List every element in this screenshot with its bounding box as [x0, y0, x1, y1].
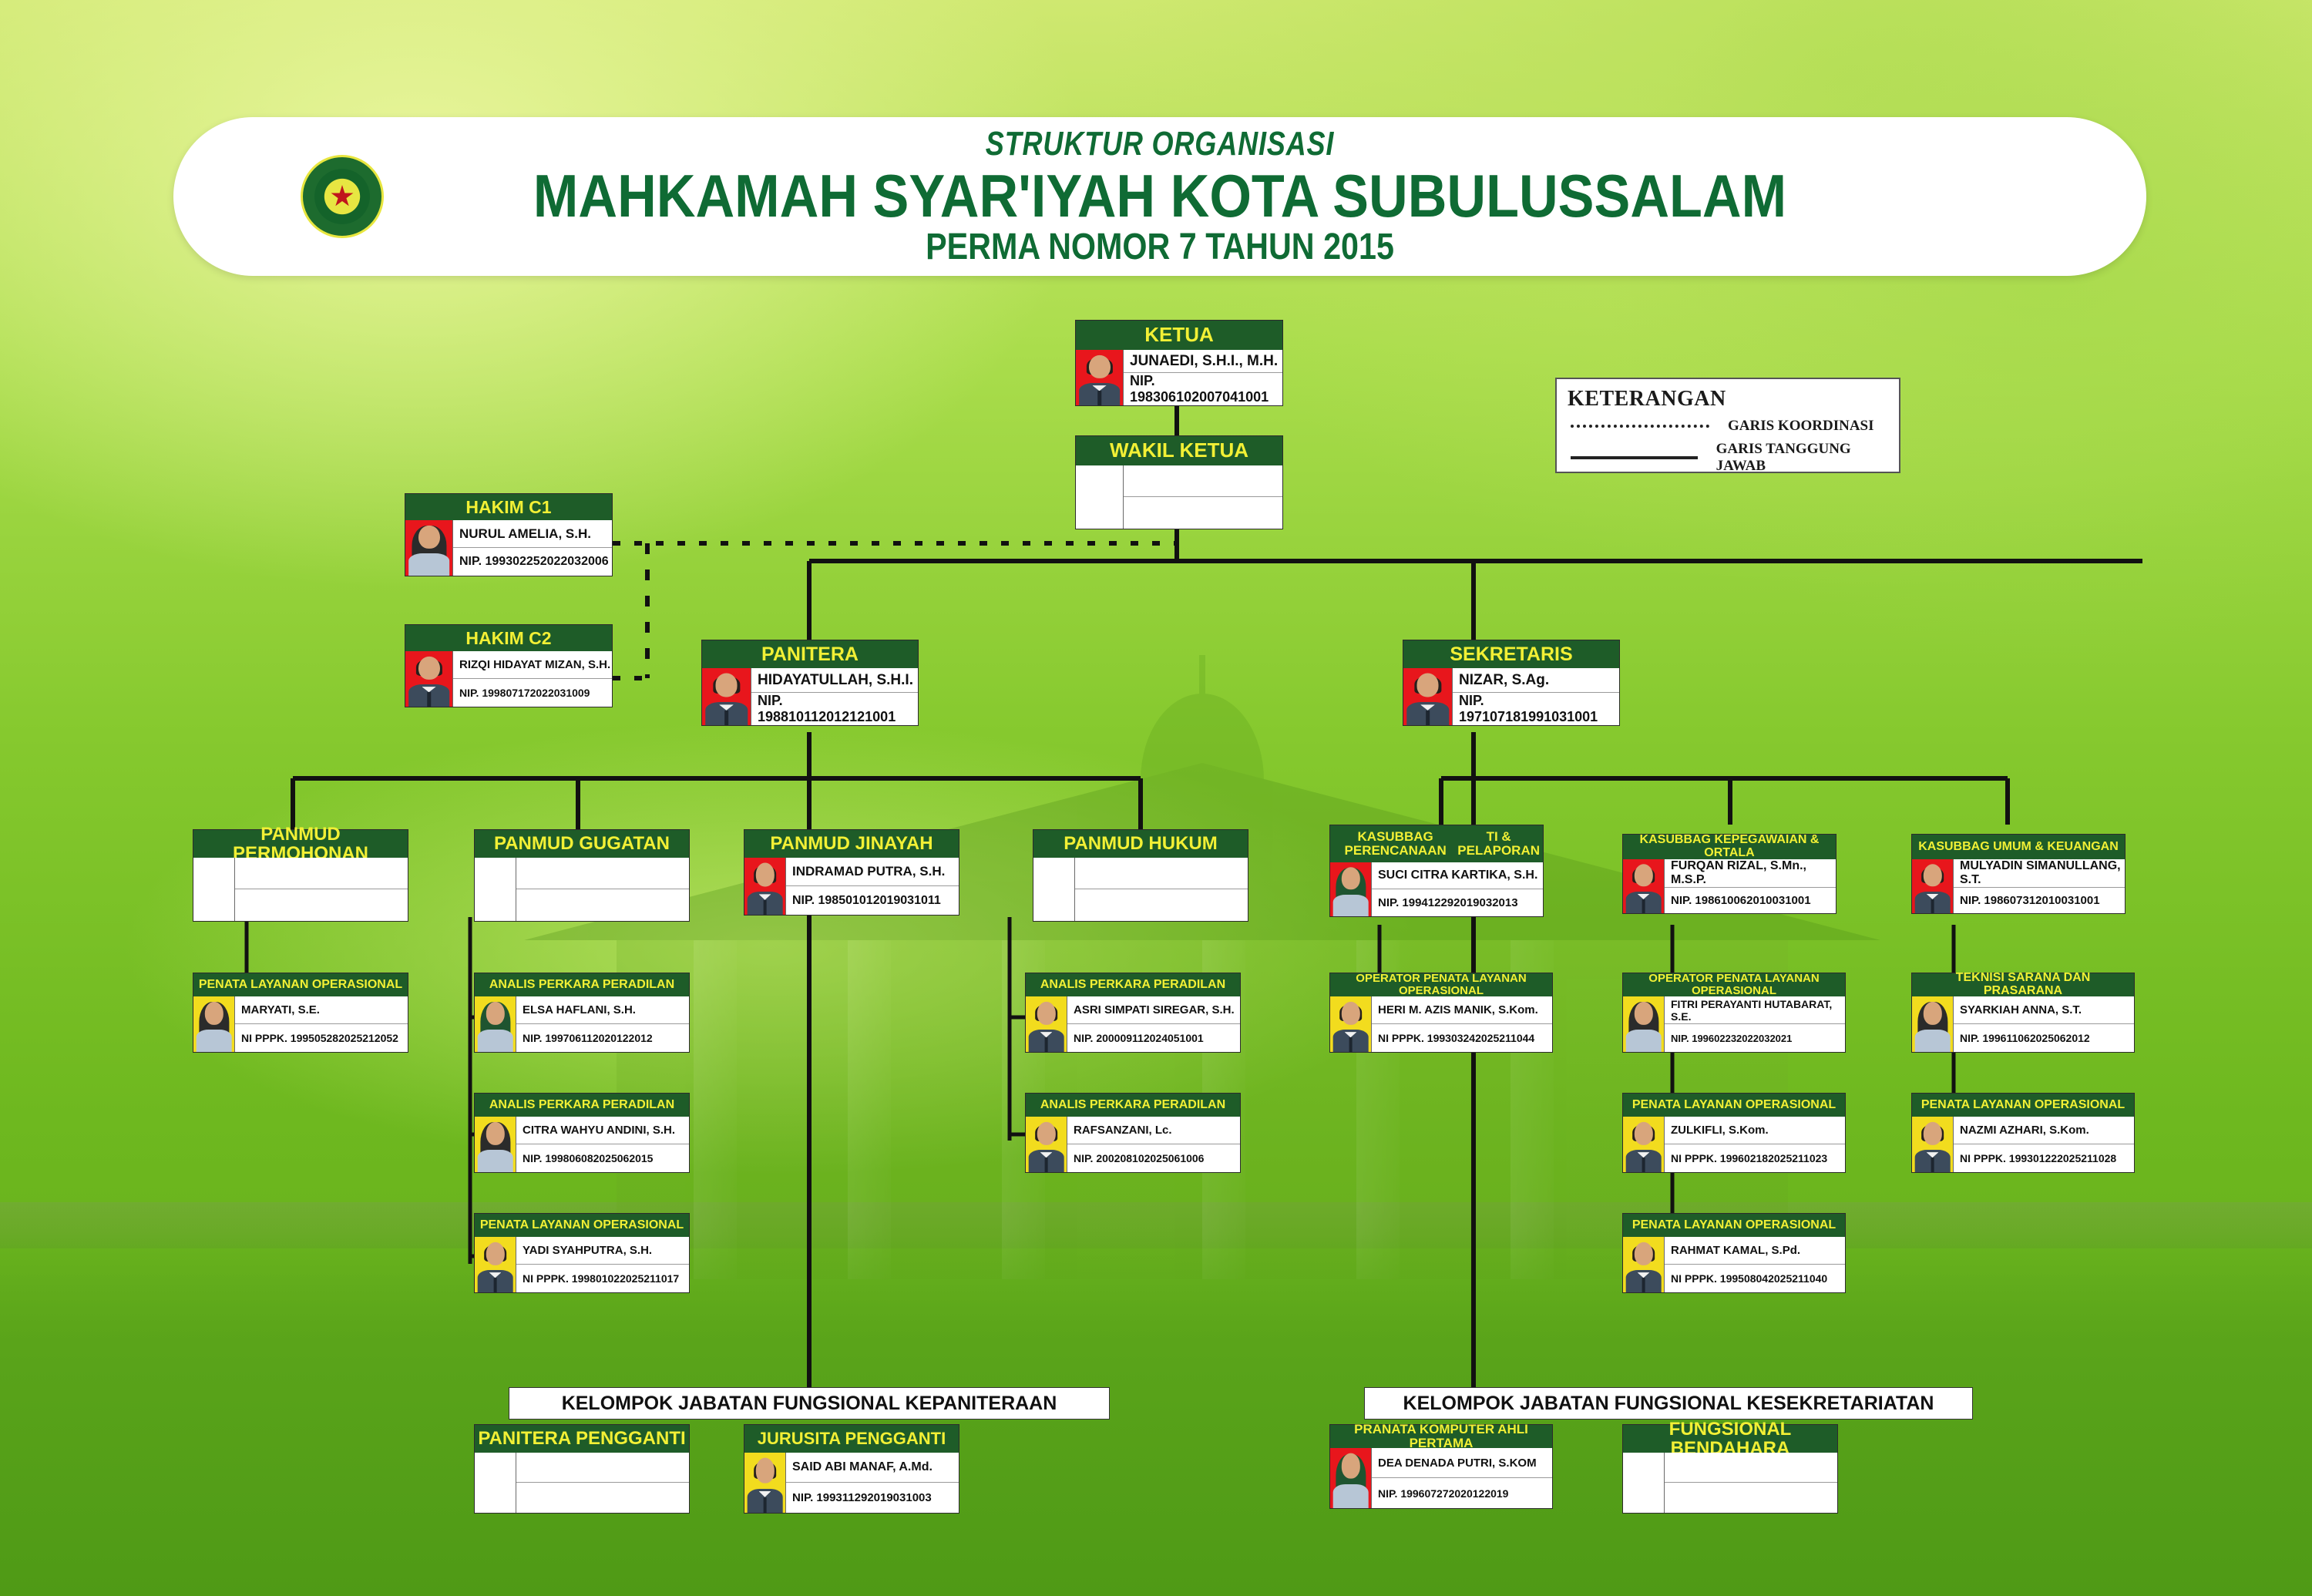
photo-panmud-gugatan	[475, 858, 516, 921]
org-card-panitera[interactable]: PANITERAHIDAYATULLAH, S.H.I.NIP. 1988101…	[701, 640, 919, 726]
org-card-jurusita-pengganti[interactable]: JURUSITA PENGGANTISAID ABI MANAF, A.Md.N…	[744, 1424, 959, 1514]
org-card-fitri[interactable]: OPERATOR PENATA LAYANAN OPERASIONALFITRI…	[1622, 973, 1846, 1053]
card-nip-rahmat: NI PPPK. 199508042025211040	[1665, 1265, 1845, 1292]
card-title-panmud-permohonan: PANMUD PERMOHONAN	[193, 830, 408, 858]
org-card-panmud-permohonan[interactable]: PANMUD PERMOHONAN	[193, 829, 408, 922]
photo-nazmi	[1912, 1117, 1954, 1172]
org-card-yadi[interactable]: PENATA LAYANAN OPERASIONALYADI SYAHPUTRA…	[474, 1213, 690, 1293]
kelompok-kepaniteraan-label: KELOMPOK JABATAN FUNGSIONAL KEPANITERAAN	[509, 1387, 1110, 1420]
card-title-fitri: OPERATOR PENATA LAYANAN OPERASIONAL	[1623, 973, 1845, 996]
org-card-panmud-jinayah[interactable]: PANMUD JINAYAHINDRAMAD PUTRA, S.H.NIP. 1…	[744, 829, 959, 916]
card-name-hakim-c1: NURUL AMELIA, S.H.	[453, 520, 612, 548]
card-name-elsa: ELSA HAFLANI, S.H.	[516, 996, 689, 1024]
org-card-hakim-c2[interactable]: HAKIM C2RIZQI HIDAYAT MIZAN, S.H.NIP. 19…	[405, 624, 613, 707]
card-name-hakim-c2: RIZQI HIDAYAT MIZAN, S.H.	[453, 651, 612, 679]
card-title-panmud-gugatan: PANMUD GUGATAN	[475, 830, 689, 858]
card-name-panitera: HIDAYATULLAH, S.H.I.	[751, 668, 918, 693]
legend-item-tanggung-jawab: GARIS TANGGUNG JAWAB	[1568, 441, 1888, 475]
org-card-panmud-hukum[interactable]: PANMUD HUKUM	[1033, 829, 1248, 922]
card-name-panmud-hukum	[1075, 858, 1248, 889]
card-nip-panitera: NIP. 198810112012121001	[751, 693, 918, 725]
card-nip-sekretaris: NIP. 197107181991031001	[1453, 693, 1619, 725]
legend-item-koordinasi: GARIS KOORDINASI	[1568, 418, 1888, 435]
card-name-citra: CITRA WAHYU ANDINI, S.H.	[516, 1117, 689, 1144]
card-title-asri: ANALIS PERKARA PERADILAN	[1026, 973, 1240, 996]
card-name-jurusita-pengganti: SAID ABI MANAF, A.Md.	[786, 1453, 959, 1483]
photo-panmud-permohonan	[193, 858, 235, 921]
card-title-kasubbag-perencanaan: KASUBBAG PERENCANAANTI & PELAPORAN	[1330, 825, 1543, 862]
legend-label-tanggung-jawab: GARIS TANGGUNG JAWAB	[1716, 441, 1888, 475]
photo-kasubbag-perencanaan	[1330, 862, 1372, 916]
card-nip-nazmi: NI PPPK. 199301222025211028	[1954, 1144, 2134, 1172]
photo-panitera-pengganti	[475, 1453, 516, 1513]
card-nip-fitri: NIP. 199602232022032021	[1665, 1024, 1845, 1052]
card-nip-elsa: NIP. 199706112020122012	[516, 1024, 689, 1052]
photo-panitera	[702, 668, 751, 725]
photo-panmud-hukum	[1033, 858, 1075, 921]
photo-elsa	[475, 996, 516, 1052]
card-title-maryati: PENATA LAYANAN OPERASIONAL	[193, 973, 408, 996]
card-nip-jurusita-pengganti: NIP. 199311292019031003	[786, 1483, 959, 1513]
card-nip-panmud-jinayah: NIP. 198501012019031011	[786, 886, 959, 915]
solid-line-icon	[1571, 456, 1698, 459]
photo-maryati	[193, 996, 235, 1052]
card-title-panmud-jinayah: PANMUD JINAYAH	[744, 830, 959, 858]
card-name-syarkiah: SYARKIAH ANNA, S.T.	[1954, 996, 2134, 1024]
card-title-pranata-komputer: PRANATA KOMPUTER AHLI PERTAMA	[1330, 1425, 1552, 1448]
org-card-rahmat[interactable]: PENATA LAYANAN OPERASIONALRAHMAT KAMAL, …	[1622, 1213, 1846, 1293]
card-name-heri: HERI M. AZIS MANIK, S.Kom.	[1372, 996, 1552, 1024]
card-title-sekretaris: SEKRETARIS	[1403, 640, 1619, 668]
card-title-kasubbag-umum: KASUBBAG UMUM & KEUANGAN	[1912, 835, 2125, 859]
card-nip-rafsanzani: NIP. 200208102025061006	[1067, 1144, 1240, 1172]
card-title-panmud-hukum: PANMUD HUKUM	[1033, 830, 1248, 858]
photo-kasubbag-kepegawaian	[1623, 859, 1665, 913]
card-title-heri: OPERATOR PENATA LAYANAN OPERASIONAL	[1330, 973, 1552, 996]
card-nip-panmud-hukum	[1075, 889, 1248, 921]
org-card-hakim-c1[interactable]: HAKIM C1NURUL AMELIA, S.H.NIP. 199302252…	[405, 493, 613, 576]
card-name-kasubbag-kepegawaian: FURQAN RIZAL, S.Mn., M.S.P.	[1665, 859, 1836, 888]
photo-rahmat	[1623, 1237, 1665, 1292]
card-title-citra: ANALIS PERKARA PERADILAN	[475, 1094, 689, 1117]
org-card-kasubbag-umum[interactable]: KASUBBAG UMUM & KEUANGANMULYADIN SIMANUL…	[1911, 834, 2125, 914]
org-card-ketua[interactable]: KETUAJUNAEDI, S.H.I., M.H.NIP. 198306102…	[1075, 320, 1283, 406]
photo-rafsanzani	[1026, 1117, 1067, 1172]
card-nip-fungsional-bendahara	[1665, 1483, 1837, 1513]
photo-ketua	[1076, 350, 1124, 405]
org-card-maryati[interactable]: PENATA LAYANAN OPERASIONALMARYATI, S.E.N…	[193, 973, 408, 1053]
photo-jurusita-pengganti	[744, 1453, 786, 1513]
card-title-fungsional-bendahara: FUNGSIONAL BENDAHARA	[1623, 1425, 1837, 1453]
card-nip-ketua: NIP. 198306102007041001	[1124, 373, 1282, 405]
org-card-pranata-komputer[interactable]: PRANATA KOMPUTER AHLI PERTAMADEA DENADA …	[1329, 1424, 1553, 1509]
card-name-ketua: JUNAEDI, S.H.I., M.H.	[1124, 350, 1282, 373]
card-title-hakim-c2: HAKIM C2	[405, 625, 612, 651]
photo-zulkifli	[1623, 1117, 1665, 1172]
photo-kasubbag-umum	[1912, 859, 1954, 913]
card-nip-wakil-ketua	[1124, 497, 1282, 529]
card-title-rafsanzani: ANALIS PERKARA PERADILAN	[1026, 1094, 1240, 1117]
header-subtitle-bottom: PERMA NOMOR 7 TAHUN 2015	[311, 229, 2008, 266]
header-subtitle-top: STRUKTUR ORGANISASI	[351, 127, 1968, 161]
org-card-kasubbag-kepegawaian[interactable]: KASUBBAG KEPEGAWAIAN & ORTALAFURQAN RIZA…	[1622, 834, 1836, 914]
card-name-kasubbag-perencanaan: SUCI CITRA KARTIKA, S.H.	[1372, 862, 1543, 889]
photo-hakim-c1	[405, 520, 453, 576]
photo-panmud-jinayah	[744, 858, 786, 915]
card-name-panmud-permohonan	[235, 858, 408, 889]
card-title-panitera-pengganti: PANITERA PENGGANTI	[475, 1425, 689, 1453]
photo-fitri	[1623, 996, 1665, 1052]
card-title-ketua: KETUA	[1076, 321, 1282, 350]
card-nip-panmud-permohonan	[235, 889, 408, 921]
org-card-zulkifli[interactable]: PENATA LAYANAN OPERASIONALZULKIFLI, S.Ko…	[1622, 1093, 1846, 1173]
org-card-asri[interactable]: ANALIS PERKARA PERADILANASRI SIMPATI SIR…	[1025, 973, 1241, 1053]
card-name-asri: ASRI SIMPATI SIREGAR, S.H.	[1067, 996, 1240, 1024]
card-nip-zulkifli: NI PPPK. 199602182025211023	[1665, 1144, 1845, 1172]
card-title-elsa: ANALIS PERKARA PERADILAN	[475, 973, 689, 996]
card-name-wakil-ketua	[1124, 465, 1282, 497]
card-title-syarkiah: TEKNISI SARANA DAN PRASARANA	[1912, 973, 2134, 996]
photo-pranata-komputer	[1330, 1448, 1372, 1508]
card-nip-kasubbag-perencanaan: NIP. 199412292019032013	[1372, 889, 1543, 916]
card-nip-asri: NIP. 200009112024051001	[1067, 1024, 1240, 1052]
org-card-kasubbag-perencanaan[interactable]: KASUBBAG PERENCANAANTI & PELAPORANSUCI C…	[1329, 825, 1544, 917]
card-name-yadi: YADI SYAHPUTRA, S.H.	[516, 1237, 689, 1265]
card-name-panitera-pengganti	[516, 1453, 689, 1483]
card-name-zulkifli: ZULKIFLI, S.Kom.	[1665, 1117, 1845, 1144]
card-title-rahmat: PENATA LAYANAN OPERASIONAL	[1623, 1214, 1845, 1237]
card-name-fitri: FITRI PERAYANTI HUTABARAT, S.E.	[1665, 996, 1845, 1024]
card-name-panmud-gugatan	[516, 858, 689, 889]
card-nip-pranata-komputer: NIP. 199607272020122019	[1372, 1478, 1552, 1508]
org-card-sekretaris[interactable]: SEKRETARISNIZAR, S.Ag.NIP. 1971071819910…	[1403, 640, 1620, 726]
card-nip-panitera-pengganti	[516, 1483, 689, 1513]
photo-syarkiah	[1912, 996, 1954, 1052]
org-card-wakil-ketua[interactable]: WAKIL KETUA	[1075, 435, 1283, 529]
card-name-fungsional-bendahara	[1665, 1453, 1837, 1483]
card-nip-maryati: NI PPPK. 199505282025212052	[235, 1024, 408, 1052]
card-name-sekretaris: NIZAR, S.Ag.	[1453, 668, 1619, 693]
card-nip-panmud-gugatan	[516, 889, 689, 921]
card-nip-citra: NIP. 199806082025062015	[516, 1144, 689, 1172]
org-card-elsa[interactable]: ANALIS PERKARA PERADILANELSA HAFLANI, S.…	[474, 973, 690, 1053]
org-card-heri[interactable]: OPERATOR PENATA LAYANAN OPERASIONALHERI …	[1329, 973, 1553, 1053]
page-title: MAHKAMAH SYAR'IYAH KOTA SUBULUSSALAM	[272, 166, 2048, 226]
card-name-maryati: MARYATI, S.E.	[235, 996, 408, 1024]
photo-heri	[1330, 996, 1372, 1052]
dotted-line-icon	[1571, 425, 1709, 428]
org-card-fungsional-bendahara[interactable]: FUNGSIONAL BENDAHARA	[1622, 1424, 1838, 1514]
org-card-rafsanzani[interactable]: ANALIS PERKARA PERADILANRAFSANZANI, Lc.N…	[1025, 1093, 1241, 1173]
card-title-nazmi: PENATA LAYANAN OPERASIONAL	[1912, 1094, 2134, 1117]
legend-label-koordinasi: GARIS KOORDINASI	[1728, 418, 1874, 435]
header-banner: STRUKTUR ORGANISASI MAHKAMAH SYAR'IYAH K…	[173, 117, 2146, 276]
card-name-rahmat: RAHMAT KAMAL, S.Pd.	[1665, 1237, 1845, 1265]
legend-box: KETERANGAN GARIS KOORDINASI GARIS TANGGU…	[1555, 378, 1900, 473]
card-name-nazmi: NAZMI AZHARI, S.Kom.	[1954, 1117, 2134, 1144]
photo-yadi	[475, 1237, 516, 1292]
card-title-hakim-c1: HAKIM C1	[405, 494, 612, 520]
photo-fungsional-bendahara	[1623, 1453, 1665, 1513]
card-name-panmud-jinayah: INDRAMAD PUTRA, S.H.	[786, 858, 959, 886]
photo-asri	[1026, 996, 1067, 1052]
org-card-nazmi[interactable]: PENATA LAYANAN OPERASIONALNAZMI AZHARI, …	[1911, 1093, 2135, 1173]
org-card-citra[interactable]: ANALIS PERKARA PERADILANCITRA WAHYU ANDI…	[474, 1093, 690, 1173]
card-nip-hakim-c1: NIP. 199302252022032006	[453, 548, 612, 576]
background-courthouse-photo	[524, 647, 1880, 1279]
photo-wakil-ketua	[1076, 465, 1124, 529]
card-nip-heri: NI PPPK. 199303242025211044	[1372, 1024, 1552, 1052]
card-nip-kasubbag-umum: NIP. 198607312010031001	[1954, 888, 2125, 913]
org-card-panmud-gugatan[interactable]: PANMUD GUGATAN	[474, 829, 690, 922]
org-card-syarkiah[interactable]: TEKNISI SARANA DAN PRASARANASYARKIAH ANN…	[1911, 973, 2135, 1053]
card-nip-hakim-c2: NIP. 199807172022031009	[453, 679, 612, 707]
photo-citra	[475, 1117, 516, 1172]
card-title-wakil-ketua: WAKIL KETUA	[1076, 436, 1282, 465]
card-nip-kasubbag-kepegawaian: NIP. 198610062010031001	[1665, 888, 1836, 913]
card-title-panitera: PANITERA	[702, 640, 918, 668]
photo-sekretaris	[1403, 668, 1453, 725]
legend-title: KETERANGAN	[1568, 387, 1888, 412]
card-title-jurusita-pengganti: JURUSITA PENGGANTI	[744, 1425, 959, 1453]
card-name-pranata-komputer: DEA DENADA PUTRI, S.KOM	[1372, 1448, 1552, 1478]
card-title-kasubbag-kepegawaian: KASUBBAG KEPEGAWAIAN & ORTALA	[1623, 835, 1836, 859]
card-title-zulkifli: PENATA LAYANAN OPERASIONAL	[1623, 1094, 1845, 1117]
card-nip-yadi: NI PPPK. 199801022025211017	[516, 1265, 689, 1292]
card-nip-syarkiah: NIP. 199611062025062012	[1954, 1024, 2134, 1052]
card-name-rafsanzani: RAFSANZANI, Lc.	[1067, 1117, 1240, 1144]
card-name-kasubbag-umum: MULYADIN SIMANULLANG, S.T.	[1954, 859, 2125, 888]
card-title-yadi: PENATA LAYANAN OPERASIONAL	[475, 1214, 689, 1237]
org-card-panitera-pengganti[interactable]: PANITERA PENGGANTI	[474, 1424, 690, 1514]
kelompok-kesekretariatan-label: KELOMPOK JABATAN FUNGSIONAL KESEKRETARIA…	[1364, 1387, 1973, 1420]
photo-hakim-c2	[405, 651, 453, 707]
